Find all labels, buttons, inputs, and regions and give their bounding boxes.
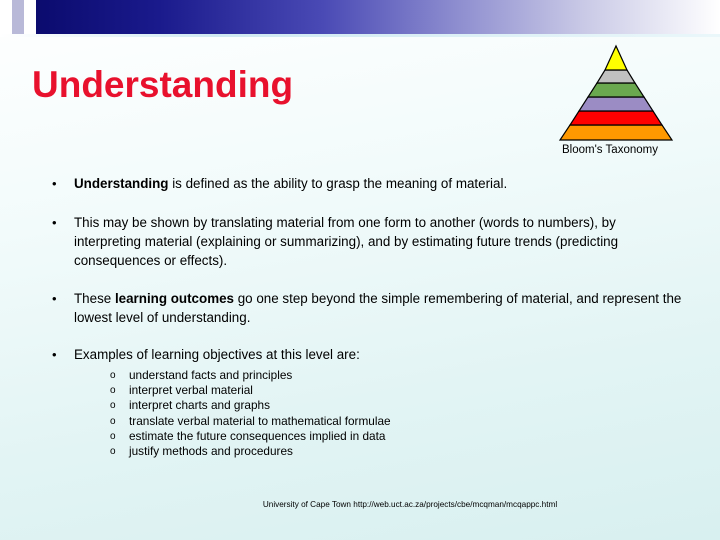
bullet-marker: •	[52, 345, 57, 364]
sub-bullet-marker: o	[110, 398, 116, 413]
sub-bullet-text: justify methods and procedures	[129, 444, 293, 458]
bullet-text: Understanding is defined as the ability …	[74, 176, 507, 191]
bullet-emphasis: learning outcomes	[115, 291, 234, 306]
pyramid-caption: Bloom's Taxonomy	[540, 144, 680, 156]
sub-bullet-marker: o	[110, 368, 116, 383]
bullet-item: • Understanding is defined as the abilit…	[44, 174, 684, 193]
page-title: Understanding	[32, 64, 293, 106]
bullet-item: • These learning outcomes go one step be…	[44, 289, 684, 327]
blooms-taxonomy-pyramid-icon	[556, 44, 676, 142]
list-item: otranslate verbal material to mathematic…	[106, 414, 684, 429]
sub-bullet-text: understand facts and principles	[129, 368, 292, 382]
sub-bullet-text: interpret charts and graphs	[129, 398, 270, 412]
sub-bullet-text: estimate the future consequences implied…	[129, 429, 385, 443]
header-swatch-3	[24, 0, 36, 34]
slide-footer: University of Cape Town http://web.uct.a…	[0, 500, 720, 509]
list-item: ointerpret verbal material	[106, 383, 684, 398]
header-swatch-2	[12, 0, 24, 34]
bullet-marker: •	[52, 174, 57, 193]
sub-bullet-marker: o	[110, 444, 116, 459]
sub-bullet-text: translate verbal material to mathematica…	[129, 414, 391, 428]
bullet-emphasis: Understanding	[74, 176, 168, 191]
header-swatch-1	[0, 0, 12, 34]
list-item: ointerpret charts and graphs	[106, 398, 684, 413]
bullet-text-lead: These	[74, 291, 115, 306]
list-item: ojustify methods and procedures	[106, 444, 684, 459]
bullet-text: This may be shown by translating materia…	[74, 215, 618, 268]
bullet-marker: •	[52, 213, 57, 232]
bullet-marker: •	[52, 289, 57, 308]
bullet-item: • This may be shown by translating mater…	[44, 213, 684, 270]
bullet-text-rest: is defined as the ability to grasp the m…	[168, 176, 507, 191]
list-item: oestimate the future consequences implie…	[106, 429, 684, 444]
footer-source-text: University of Cape Town http://web.uct.a…	[163, 500, 557, 509]
header-gradient-band	[36, 0, 720, 34]
sub-bullet-marker: o	[110, 383, 116, 398]
bullet-text: Examples of learning objectives at this …	[74, 347, 360, 362]
slide-body: • Understanding is defined as the abilit…	[44, 174, 684, 459]
sub-bullet-list: ounderstand facts and principles ointerp…	[106, 368, 684, 459]
header-underline	[0, 34, 720, 37]
bullet-item: • Examples of learning objectives at thi…	[44, 345, 684, 364]
bullet-text: These learning outcomes go one step beyo…	[74, 291, 681, 325]
slide-header-bar	[0, 0, 720, 34]
list-item: ounderstand facts and principles	[106, 368, 684, 383]
sub-bullet-marker: o	[110, 429, 116, 444]
sub-bullet-marker: o	[110, 414, 116, 429]
sub-bullet-text: interpret verbal material	[129, 383, 253, 397]
